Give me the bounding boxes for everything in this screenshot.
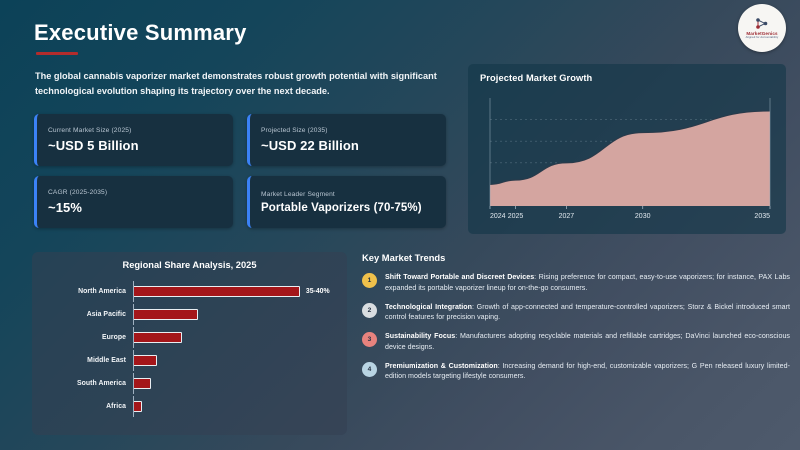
bar-value-label: 35-40%: [306, 288, 330, 295]
trends-title: Key Market Trends: [362, 252, 790, 263]
projected-market-growth-panel: Projected Market Growth 2024202520272030…: [468, 64, 786, 234]
stat-card-label: Market Leader Segment: [261, 191, 435, 198]
regional-chart-title: Regional Share Analysis, 2025: [32, 260, 347, 270]
trend-item: 2Technological Integration: Growth of ap…: [362, 302, 790, 324]
trend-number-badge: 3: [362, 332, 377, 347]
growth-chart-title: Projected Market Growth: [480, 73, 774, 83]
bar-category-label: Europe: [32, 334, 133, 341]
stat-card-cagr: CAGR (2025-2035) ~15%: [34, 176, 233, 228]
growth-area-chart: 20242025202720302035: [480, 94, 774, 224]
bar-track: [133, 326, 347, 349]
bar-category-label: Middle East: [32, 357, 133, 364]
bar-category-label: Asia Pacific: [32, 311, 133, 318]
stat-card-market-leader-segment: Market Leader Segment Portable Vaporizer…: [247, 176, 446, 228]
trend-heading: Shift Toward Portable and Discreet Devic…: [385, 273, 534, 281]
trend-text: Premiumization & Customization: Increasi…: [385, 361, 790, 383]
bar-track: [133, 349, 347, 372]
regional-bar-chart: North America35-40%Asia PacificEuropeMid…: [32, 280, 347, 428]
svg-text:2035: 2035: [754, 213, 770, 220]
trend-text: Technological Integration: Growth of app…: [385, 302, 790, 324]
bar-row: Asia Pacific: [32, 303, 347, 326]
bar: [133, 332, 182, 343]
bar: [133, 401, 142, 412]
bar: [133, 355, 157, 366]
bar-track: [133, 303, 347, 326]
trend-item: 4Premiumization & Customization: Increas…: [362, 361, 790, 383]
trend-text: Sustainability Focus: Manufacturers adop…: [385, 331, 790, 353]
svg-text:2024: 2024: [490, 213, 506, 220]
svg-text:2030: 2030: [635, 213, 651, 220]
logo-tagline: Aligned for Accountability: [746, 36, 779, 39]
stat-card-current-market-size: Current Market Size (2025) ~USD 5 Billio…: [34, 114, 233, 166]
stat-card-label: Projected Size (2035): [261, 127, 435, 134]
svg-text:2025: 2025: [508, 213, 524, 220]
trend-number-badge: 2: [362, 303, 377, 318]
svg-text:2027: 2027: [559, 213, 575, 220]
bar: [133, 309, 198, 320]
trend-number-badge: 1: [362, 273, 377, 288]
stat-card-value: ~USD 5 Billion: [48, 138, 222, 153]
stat-card-value: Portable Vaporizers (70-75%): [261, 202, 435, 214]
bar-track: [133, 395, 347, 418]
title-underline: [36, 52, 78, 55]
trend-number-badge: 4: [362, 362, 377, 377]
bar-track: 35-40%: [133, 280, 347, 303]
trend-item: 3Sustainability Focus: Manufacturers ado…: [362, 331, 790, 353]
trend-item: 1Shift Toward Portable and Discreet Devi…: [362, 272, 790, 294]
page-title: Executive Summary: [34, 20, 247, 46]
stat-card-projected-size: Projected Size (2035) ~USD 22 Billion: [247, 114, 446, 166]
bar-track: [133, 372, 347, 395]
bar-row: North America35-40%: [32, 280, 347, 303]
bar: [133, 378, 151, 389]
trend-text: Shift Toward Portable and Discreet Devic…: [385, 272, 790, 294]
network-node-icon: [754, 17, 770, 31]
bar-row: Africa: [32, 395, 347, 418]
bar-category-label: North America: [32, 288, 133, 295]
trend-heading: Technological Integration: [385, 303, 472, 311]
trend-heading: Premiumization & Customization: [385, 362, 498, 370]
regional-share-panel: Regional Share Analysis, 2025 North Amer…: [32, 252, 347, 435]
bar-category-label: South America: [32, 380, 133, 387]
key-market-trends-panel: Key Market Trends 1Shift Toward Portable…: [362, 252, 790, 390]
bar-row: Europe: [32, 326, 347, 349]
company-logo: MarketGenics Aligned for Accountability: [738, 4, 786, 52]
stat-card-label: CAGR (2025-2035): [48, 189, 222, 196]
bar: [133, 286, 300, 297]
intro-paragraph: The global cannabis vaporizer market dem…: [35, 69, 443, 99]
stat-cards: Current Market Size (2025) ~USD 5 Billio…: [34, 114, 446, 238]
bar-row: South America: [32, 372, 347, 395]
logo-name: MarketGenics: [746, 31, 777, 36]
trend-heading: Sustainability Focus: [385, 332, 455, 340]
bar-row: Middle East: [32, 349, 347, 372]
bar-category-label: Africa: [32, 403, 133, 410]
stat-card-value: ~USD 22 Billion: [261, 138, 435, 153]
stat-card-value-cagr: ~15%: [48, 200, 222, 215]
stat-card-label: Current Market Size (2025): [48, 127, 222, 134]
